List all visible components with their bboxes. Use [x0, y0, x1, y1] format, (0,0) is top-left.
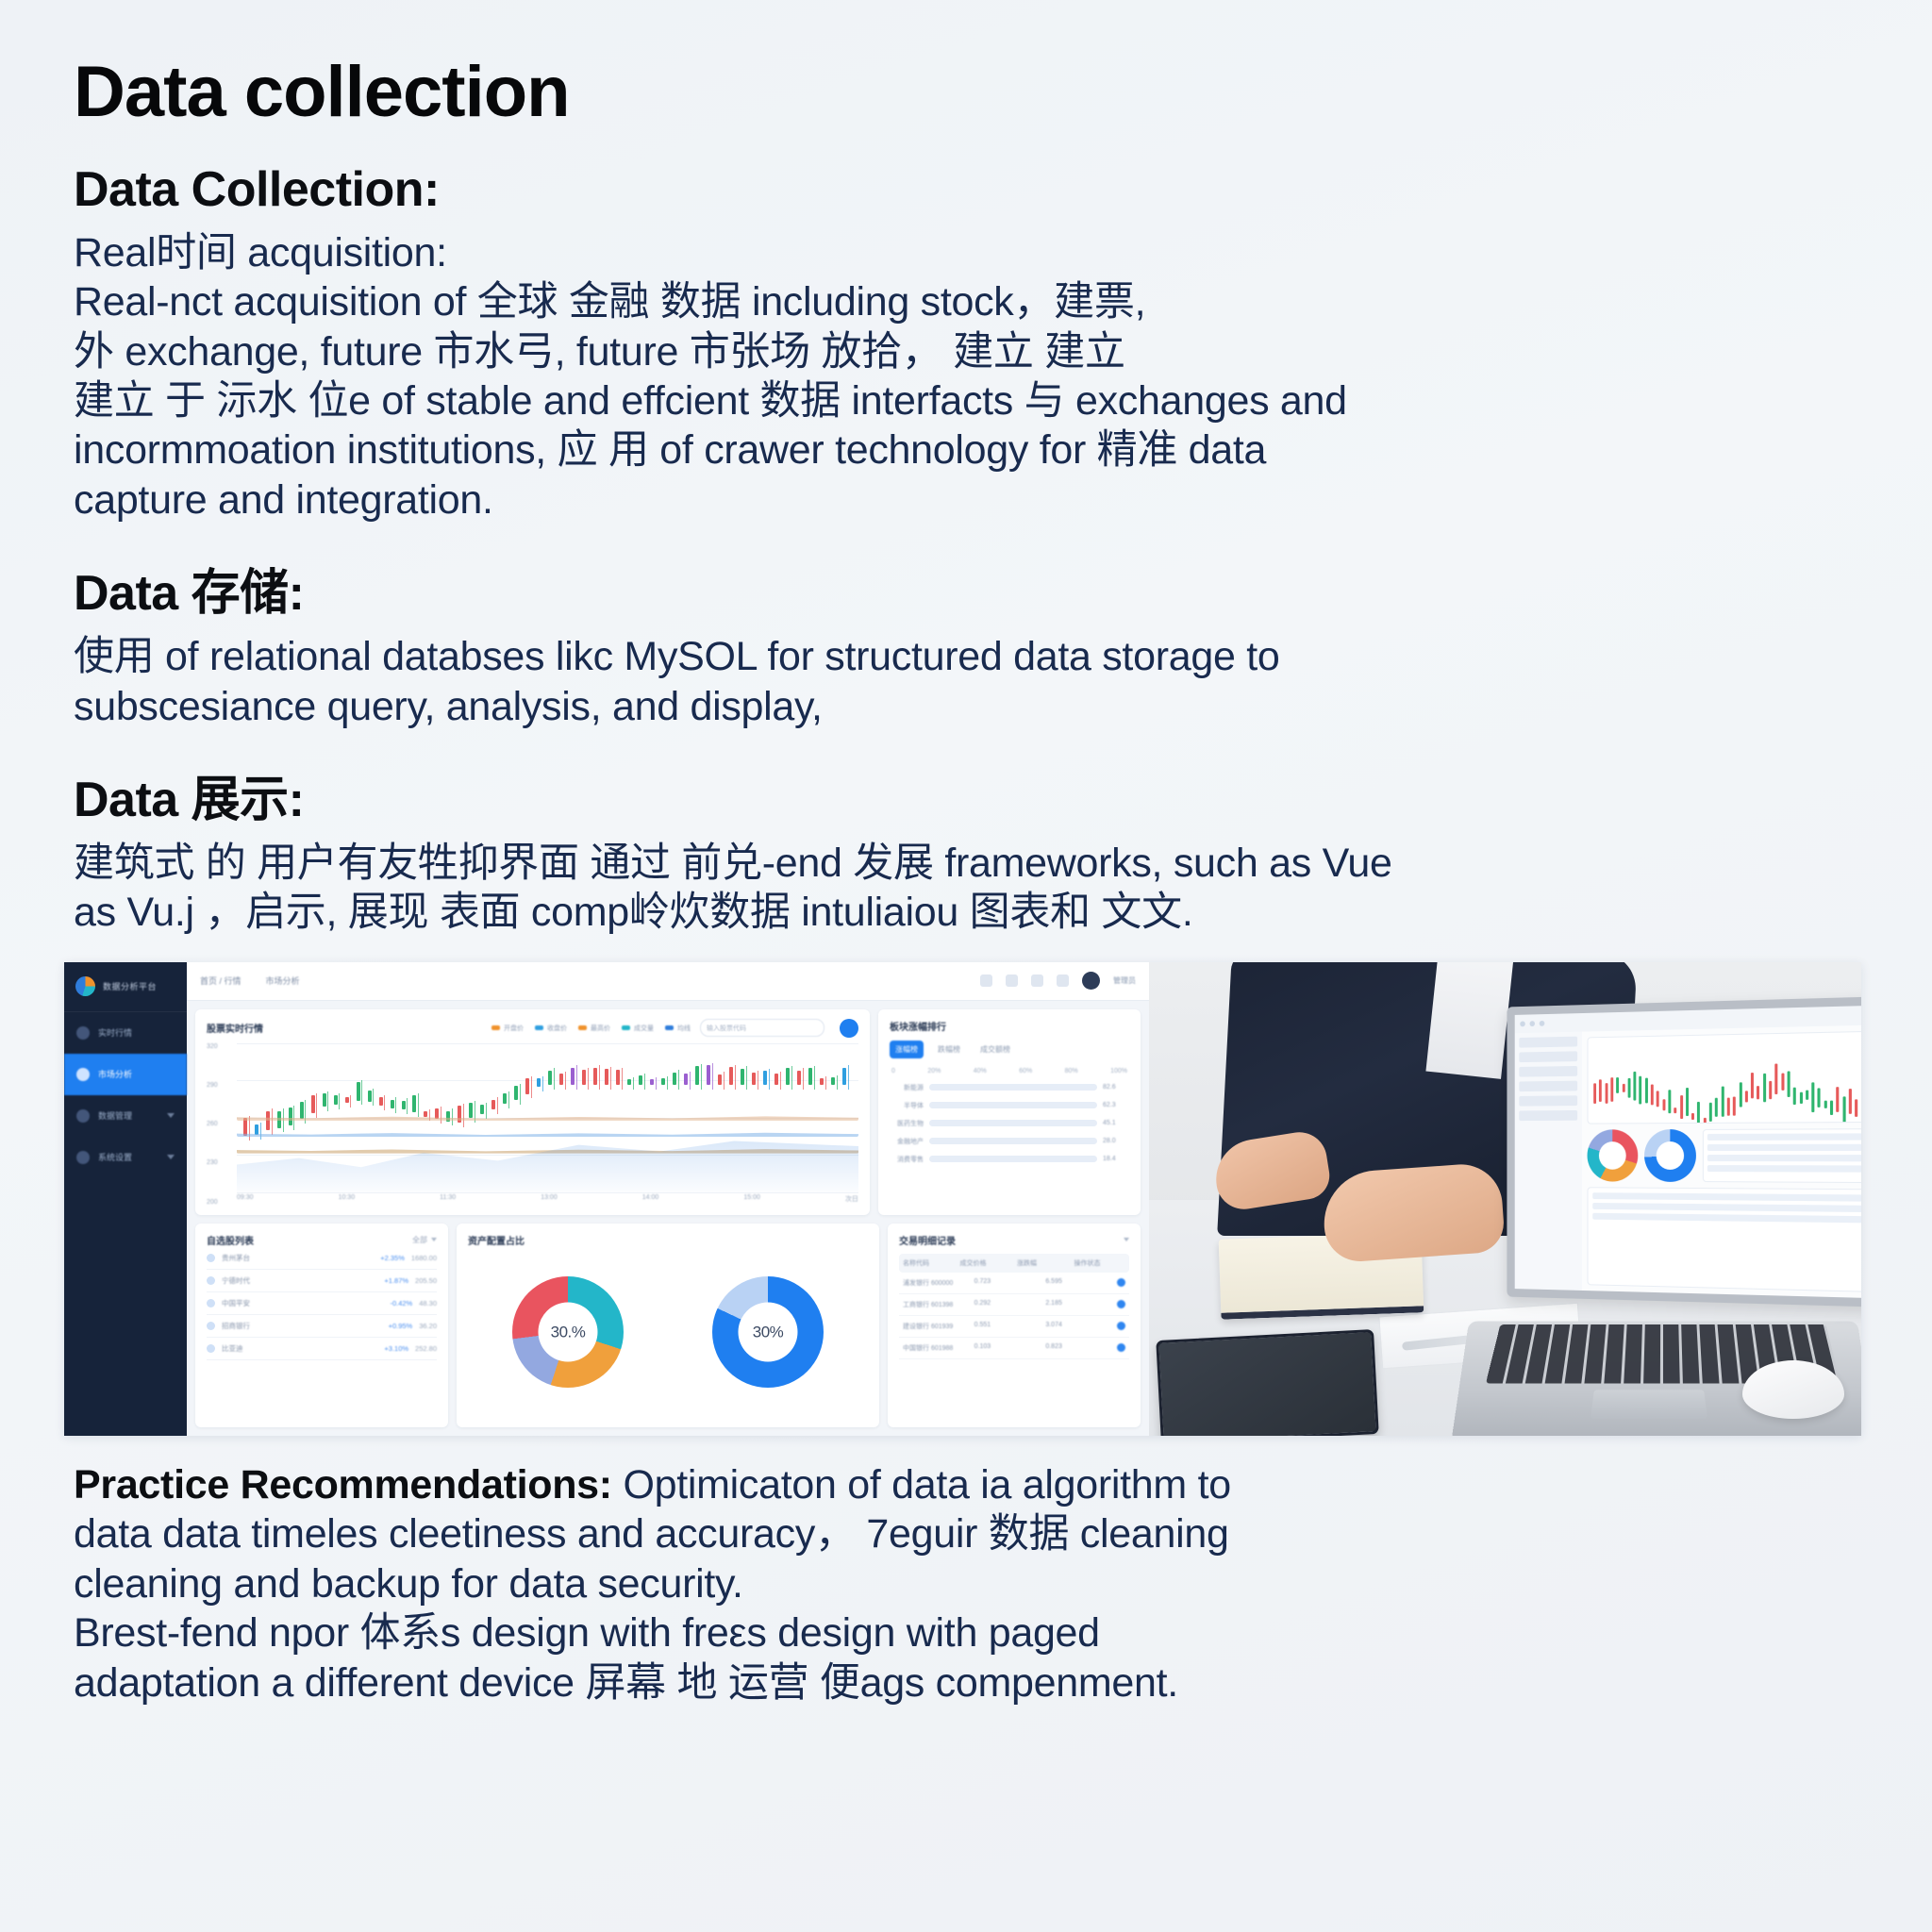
list-item[interactable]: 贵州茅台+2.35%1680.00: [207, 1247, 437, 1270]
chevron-down-icon: [167, 1113, 175, 1118]
bar-row: 新能源82.6: [890, 1083, 1129, 1092]
table-row: 浦发银行 6000000.7236.595: [899, 1273, 1129, 1294]
dot-icon: [1520, 1021, 1525, 1026]
table-row: 工商银行 6013980.2922.185: [899, 1294, 1129, 1316]
transactions-table-card: 交易明细记录 名称代码 成交价格 涨跌幅 操作状态: [888, 1224, 1141, 1427]
sidebar-item-market-analysis[interactable]: 市场分析: [64, 1054, 187, 1095]
database-icon: [76, 1109, 90, 1123]
kline-chart: 320 290 260 230 200 09:30: [207, 1043, 858, 1206]
kline-legend: 开盘价 收盘价 最高价 成交量 均线: [491, 1024, 691, 1033]
watchlist-title: 自选股列表: [207, 1233, 254, 1247]
section-body-data-display: 建筑式 的 用户有友牲抑界面 通过 前兑-end 发展 frameworks, …: [74, 839, 1866, 938]
sidebar-item-data-management[interactable]: 数据管理: [64, 1095, 187, 1137]
chevron-down-icon: [1124, 1238, 1129, 1241]
sidebar-item-label: 系统设置: [98, 1151, 132, 1163]
section-heading-data-collection: Data Collection:: [74, 162, 1866, 219]
body-line: as Vu.j ，启示, 展现 表面 comp岭炊数据 intuliaiou 图…: [74, 888, 1866, 937]
list-item[interactable]: 招商银行+0.95%36.20: [207, 1315, 437, 1338]
y-axis: 320 290 260 230 200: [207, 1043, 235, 1206]
section-heading-data-display: Data 展示:: [74, 773, 1866, 829]
body-line: capture and integration.: [74, 475, 1866, 525]
legend-item: 成交量: [622, 1024, 654, 1033]
kline-card-title: 股票实时行情: [207, 1021, 263, 1035]
fullscreen-icon[interactable]: [1031, 974, 1043, 987]
laptop-main: [1582, 1024, 1861, 1298]
table-header: 名称代码 成交价格 涨跌幅 操作状态: [899, 1254, 1129, 1273]
body-line: 建立 于 沶水 位e of stable and effcient 数据 int…: [74, 376, 1866, 425]
photo-shirt: [1425, 962, 1513, 1079]
body-line: 建筑式 的 用户有友牲抑界面 通过 前兑-end 发展 frameworks, …: [74, 839, 1866, 888]
legend-item: 最高价: [578, 1024, 610, 1033]
table-actions[interactable]: [1124, 1238, 1129, 1241]
sidebar-item-settings[interactable]: 系统设置: [64, 1137, 187, 1178]
dot-icon: [1540, 1021, 1545, 1026]
user-name: 管理员: [1113, 975, 1136, 986]
table-row: 建设银行 6019390.5513.074: [899, 1316, 1129, 1338]
laptop-donut-1: [1588, 1129, 1639, 1181]
watchlist-filter[interactable]: 全部: [412, 1235, 437, 1245]
practice-lead-rest: Optimicaton of data ia algorithm to: [612, 1462, 1231, 1507]
dot-icon: [1529, 1021, 1535, 1026]
gear-icon[interactable]: [1057, 974, 1069, 987]
kline-plot: [237, 1043, 858, 1192]
body-line: 外 exchange, future 市水弓, future 市张场 放拾， 建…: [74, 327, 1866, 376]
page-title: Data collection: [74, 55, 1866, 130]
bell-icon[interactable]: [1006, 974, 1018, 987]
allocation-donut-card: 资产配置占比 30.% 30%: [457, 1224, 879, 1427]
tab-losers[interactable]: 跌幅榜: [932, 1041, 966, 1058]
donut-card-title: 资产配置占比: [468, 1233, 868, 1247]
slide-root: Data collection Data Collection: Real时间 …: [0, 0, 1932, 1932]
dashboard-main: 首页 / 行情 市场分析 管理员: [187, 962, 1149, 1436]
photo-trackpad: [1591, 1390, 1707, 1419]
bar-row: 医药生物45.1: [890, 1119, 1129, 1128]
gear-icon: [76, 1151, 90, 1164]
body-line: cleaning and backup for data security.: [74, 1559, 1866, 1608]
laptop-list: [1588, 1187, 1861, 1292]
body-line: adaptation a different device 屏幕 地 运营 便a…: [74, 1658, 1866, 1707]
brand: 数据分析平台: [64, 962, 187, 1012]
table-body: 浦发银行 6000000.7236.595工商银行 6013980.2922.1…: [899, 1273, 1129, 1359]
bar-card-title: 板块涨幅排行: [890, 1019, 1129, 1033]
laptop-side-list: [1703, 1128, 1861, 1183]
bar-rows: 新能源82.6半导体62.3医药生物45.1金融地产28.0消费零售18.4: [890, 1083, 1129, 1164]
brand-label: 数据分析平台: [103, 980, 157, 992]
body-line: 使用 of relational databses likc MySOL for…: [74, 632, 1866, 681]
logo-icon: [75, 976, 95, 996]
tab-turnover[interactable]: 成交额榜: [974, 1041, 1016, 1058]
analytics-icon: [76, 1068, 90, 1081]
breadcrumb: 首页 / 行情: [200, 974, 241, 987]
laptop-kline: [1588, 1031, 1861, 1124]
search-input[interactable]: 输入股票代码: [700, 1019, 824, 1037]
section-body-data-collection: Real时间 acquisition: Real-nct acquisition…: [74, 228, 1866, 525]
watchlist-rows: 贵州茅台+2.35%1680.00宁德时代+1.87%205.50中国平安-0.…: [207, 1247, 437, 1360]
laptop-donut-2: [1644, 1129, 1696, 1182]
watchlist-card: 自选股列表 全部 贵州茅台+2.35%1680.00宁德时代+1.87%205.…: [195, 1224, 448, 1427]
laptop-donuts: [1588, 1128, 1861, 1183]
avatar[interactable]: [1082, 972, 1100, 990]
section-heading-data-storage: Data 存储:: [74, 566, 1866, 623]
photo-laptop-screen: [1507, 996, 1861, 1307]
dashboard-grid: 股票实时行情 开盘价 收盘价 最高价 成交量 均线 输入股票代码: [187, 1001, 1149, 1436]
sidebar-item-label: 市场分析: [98, 1068, 132, 1080]
section-body-data-storage: 使用 of relational databses likc MySOL for…: [74, 632, 1866, 731]
photo-tablet: [1156, 1329, 1378, 1436]
body-line: subscesiance query, analysis, and displa…: [74, 682, 1866, 731]
chevron-down-icon: [167, 1155, 175, 1159]
donut-center-label: 30.%: [551, 1323, 586, 1341]
bar-axis-ticks: 0 20% 40% 60% 80% 100%: [890, 1068, 1129, 1074]
breadcrumb-current: 市场分析: [266, 974, 300, 987]
bar-ranking-card: 板块涨幅排行 涨幅榜 跌幅榜 成交额榜 0 20% 40%: [878, 1009, 1141, 1215]
table-card-title: 交易明细记录: [899, 1233, 956, 1247]
legend-item: 均线: [665, 1024, 691, 1033]
photo-business-desk: [1149, 962, 1861, 1436]
list-item[interactable]: 比亚迪+3.10%252.80: [207, 1338, 437, 1360]
search-button[interactable]: [840, 1019, 858, 1038]
body-line: Real时间 acquisition:: [74, 228, 1866, 277]
chevron-down-icon: [431, 1238, 437, 1241]
donut-chart-allocation: 30.%: [512, 1276, 624, 1388]
legend-item: 收盘价: [535, 1024, 567, 1033]
kline-card: 股票实时行情 开盘价 收盘价 最高价 成交量 均线 输入股票代码: [195, 1009, 870, 1215]
practice-recommendations: Practice Recommendations: Optimicaton of…: [74, 1460, 1866, 1707]
sidebar-item-label: 实时行情: [98, 1026, 132, 1039]
bar-row: 金融地产28.0: [890, 1137, 1129, 1146]
sidebar-item-label: 数据管理: [98, 1109, 132, 1122]
topbar-actions: 管理员: [980, 972, 1136, 990]
body-line: incormmoation institutions, 应 用 of crawe…: [74, 425, 1866, 475]
sidebar-item-realtime[interactable]: 实时行情: [64, 1012, 187, 1054]
figure-dashboard-and-photo: 数据分析平台 实时行情 市场分析 数据管理: [64, 962, 1861, 1436]
body-line: Brest-fend npor 体系s design with freεs de…: [74, 1608, 1866, 1657]
dashboard-sidebar: 数据分析平台 实时行情 市场分析 数据管理: [64, 962, 187, 1436]
legend-item: 开盘价: [491, 1024, 524, 1033]
tab-gainers[interactable]: 涨幅榜: [890, 1041, 924, 1058]
donut-chart-invested: 30%: [712, 1276, 824, 1388]
chart-icon: [76, 1026, 90, 1040]
search-icon[interactable]: [980, 974, 992, 987]
dashboard-topbar: 首页 / 行情 市场分析 管理员: [187, 962, 1149, 1001]
donut-center-label: 30%: [753, 1323, 784, 1341]
donut-container: 30.% 30%: [468, 1247, 868, 1418]
bar-card-tabs: 涨幅榜 跌幅榜 成交额榜: [890, 1041, 1129, 1058]
body-line: data data timeles cleetiness and accurac…: [74, 1509, 1866, 1558]
practice-lead-line: Practice Recommendations: Optimicaton of…: [74, 1460, 1866, 1509]
bar-row: 半导体62.3: [890, 1101, 1129, 1110]
list-item[interactable]: 中国平安-0.42%48.30: [207, 1292, 437, 1315]
table-row: 中国银行 6019880.1030.823: [899, 1338, 1129, 1359]
practice-lead-label: Practice Recommendations:: [74, 1462, 612, 1507]
bar-row: 消费零售18.4: [890, 1155, 1129, 1164]
body-line: Real-nct acquisition of 全球 金融 数据 includi…: [74, 277, 1866, 326]
list-item[interactable]: 宁德时代+1.87%205.50: [207, 1270, 437, 1292]
laptop-sidebar: [1515, 1031, 1582, 1290]
dashboard-screenshot: 数据分析平台 实时行情 市场分析 数据管理: [64, 962, 1149, 1436]
x-axis: 09:30 10:30 11:30 13:00 14:00 15:00 次日: [237, 1194, 858, 1206]
